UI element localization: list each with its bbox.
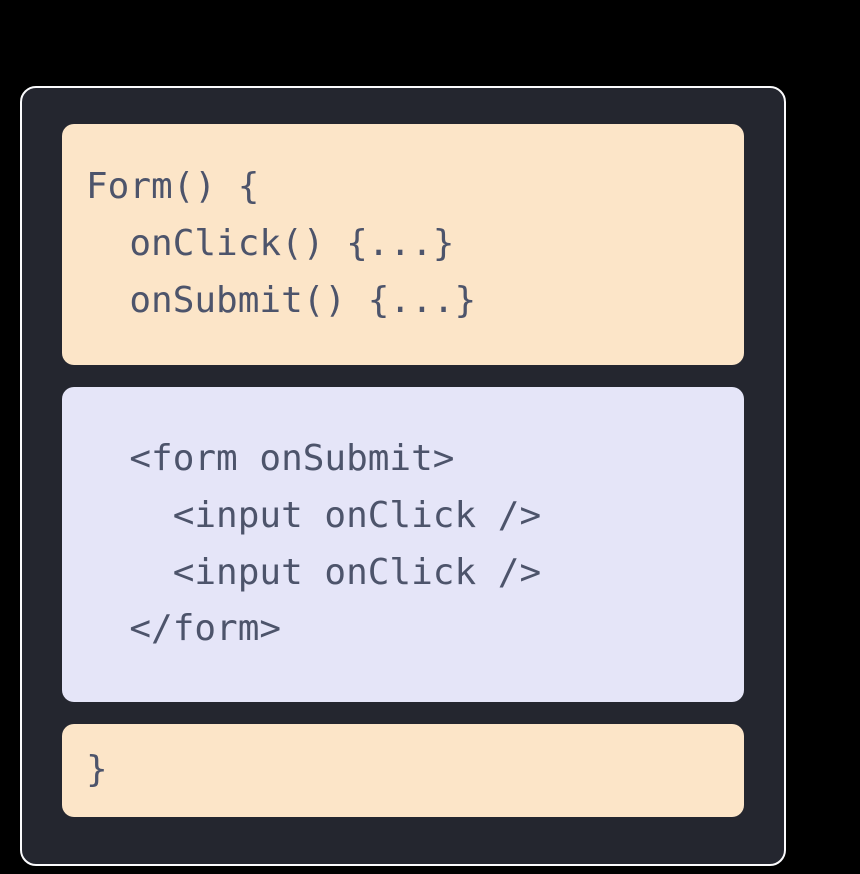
code-line: <input onClick /> (86, 488, 720, 545)
illustration-canvas: Form() { onClick() {...} onSubmit() {...… (0, 0, 860, 874)
code-line: onClick() {...} (86, 216, 720, 273)
code-line: onSubmit() {...} (86, 273, 720, 330)
code-block-component-head: Form() { onClick() {...} onSubmit() {...… (62, 124, 744, 365)
code-block-markup: <form onSubmit> <input onClick /> <input… (62, 387, 744, 702)
code-block-component-close: } (62, 724, 744, 817)
code-card: Form() { onClick() {...} onSubmit() {...… (20, 86, 786, 866)
code-line: } (86, 742, 720, 799)
code-line: Form() { (86, 159, 720, 216)
code-line: <form onSubmit> (86, 431, 720, 488)
code-line: </form> (86, 601, 720, 658)
code-line: <input onClick /> (86, 545, 720, 602)
